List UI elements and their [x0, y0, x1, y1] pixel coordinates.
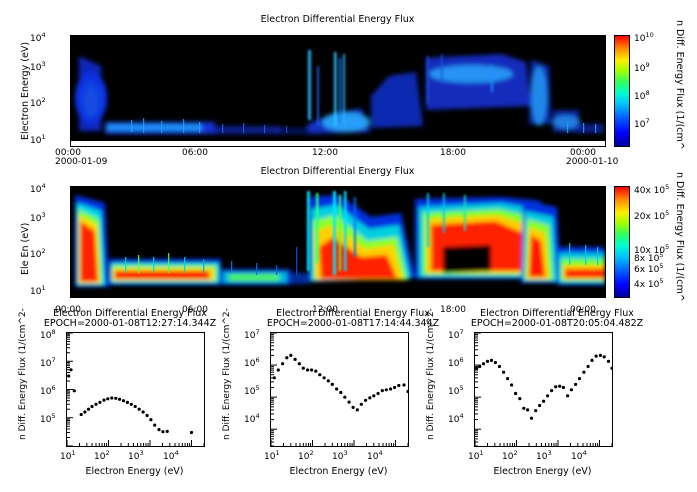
top-ytick-2: 102 [30, 96, 46, 109]
middle-spectrogram-image [71, 187, 605, 297]
top-spectrogram-plot[interactable] [70, 35, 606, 147]
middle-cbar-tick-4: 6x 105 [634, 262, 664, 275]
spectrum-1-xtick-0: 101 [264, 449, 280, 462]
middle-panel-title: Electron Differential Energy Flux [70, 166, 605, 177]
spectrum-2-ytick-3: 104 [448, 412, 464, 425]
spectrum-0-ytick-0: 108 [40, 328, 56, 341]
spectrum-2-xlabel: Electron Energy (eV) [474, 466, 611, 477]
top-xtick-2: 12:00 [312, 148, 338, 158]
spectrum-2-epoch: EPOCH=2000-01-08T20:05:04.482Z [452, 318, 662, 329]
middle-cbar-tick-1: 20x 105 [634, 209, 669, 222]
spectrum-0-epoch: EPOCH=2000-01-08T12:27:14.344Z [30, 318, 230, 329]
spectrum-2-ytick-0: 107 [448, 328, 464, 341]
spectrum-0-points [67, 333, 204, 446]
spectrum-0-plot[interactable] [66, 332, 205, 447]
top-cbar-tick-3: 107 [634, 117, 650, 130]
spectrum-0-ytick-2: 106 [40, 384, 56, 397]
spectrum-1-points [271, 333, 408, 446]
spectrum-2-xtick-1: 102 [502, 449, 518, 462]
top-cbar-tick-1: 109 [634, 61, 650, 74]
top-ytick-0: 104 [30, 31, 46, 44]
top-panel-ylabel: Electron Energy (eV) [20, 42, 31, 140]
top-xtick-1: 06:00 [182, 148, 208, 158]
spectrum-1-ylabel: n Diff. Energy Flux (1/(cm^2- [222, 308, 232, 440]
top-ytick-3: 101 [30, 133, 46, 146]
spectrum-2-ytick-2: 105 [448, 384, 464, 397]
spectrum-2-ylabel: n Diff. Energy Flux (1/(cm^2- [426, 308, 436, 440]
top-ytick-1: 103 [30, 60, 46, 73]
spectrum-0-ytick-3: 105 [40, 412, 56, 425]
spectrum-2-xtick-0: 101 [468, 449, 484, 462]
spectrum-1-ytick-1: 106 [244, 356, 260, 369]
spectrum-0-xtick-3: 104 [163, 449, 179, 462]
spectrum-0-xlabel: Electron Energy (eV) [66, 466, 203, 477]
spectrum-0-ylabel: n Diff. Energy Flux (1/(cm^2- [18, 308, 28, 440]
spectrum-0-xtick-2: 103 [128, 449, 144, 462]
spectrum-2-xtick-2: 103 [536, 449, 552, 462]
spectrum-1-xlabel: Electron Energy (eV) [270, 466, 407, 477]
middle-ytick-2: 102 [30, 247, 46, 260]
spectrum-0-ytick-1: 107 [40, 356, 56, 369]
top-xtick-3: 18:00 [440, 148, 466, 158]
spectrum-1-plot[interactable] [270, 332, 409, 447]
spectrum-1-ytick-2: 105 [244, 384, 260, 397]
spectrum-1-ytick-0: 107 [244, 328, 260, 341]
spectrum-0-xtick-0: 101 [60, 449, 76, 462]
middle-colorbar-label: n Diff. Energy Flux (1/(cm^ [674, 172, 685, 302]
top-spectrogram-image [71, 36, 605, 146]
middle-cbar-tick-0: 40x 105 [634, 183, 669, 196]
middle-panel-ylabel: Ele En (eV) [20, 223, 31, 275]
spectrum-1-ytick-3: 104 [244, 412, 260, 425]
middle-colorbar[interactable] [614, 186, 630, 298]
middle-ytick-0: 104 [30, 182, 46, 195]
middle-ytick-1: 103 [30, 211, 46, 224]
middle-cbar-tick-5: 4x 105 [634, 277, 664, 290]
top-cbar-tick-0: 1010 [634, 31, 654, 44]
spectrum-2-xtick-3: 104 [571, 449, 587, 462]
spectrum-0-xtick-1: 102 [94, 449, 110, 462]
top-panel-title: Electron Differential Energy Flux [70, 14, 605, 25]
spectrum-1-xtick-2: 103 [332, 449, 348, 462]
top-cbar-tick-2: 108 [634, 89, 650, 102]
spectrum-2-ytick-1: 106 [448, 356, 464, 369]
spectrum-2-points [475, 333, 612, 446]
spectrum-2-plot[interactable] [474, 332, 613, 447]
middle-ytick-3: 101 [30, 284, 46, 297]
top-colorbar[interactable] [614, 35, 630, 147]
spectrum-1-xtick-1: 102 [298, 449, 314, 462]
middle-spectrogram-plot[interactable] [70, 186, 606, 298]
spectrum-1-xtick-3: 104 [367, 449, 383, 462]
top-colorbar-label: n Diff. Energy Flux (1/(cm^ [674, 20, 685, 150]
